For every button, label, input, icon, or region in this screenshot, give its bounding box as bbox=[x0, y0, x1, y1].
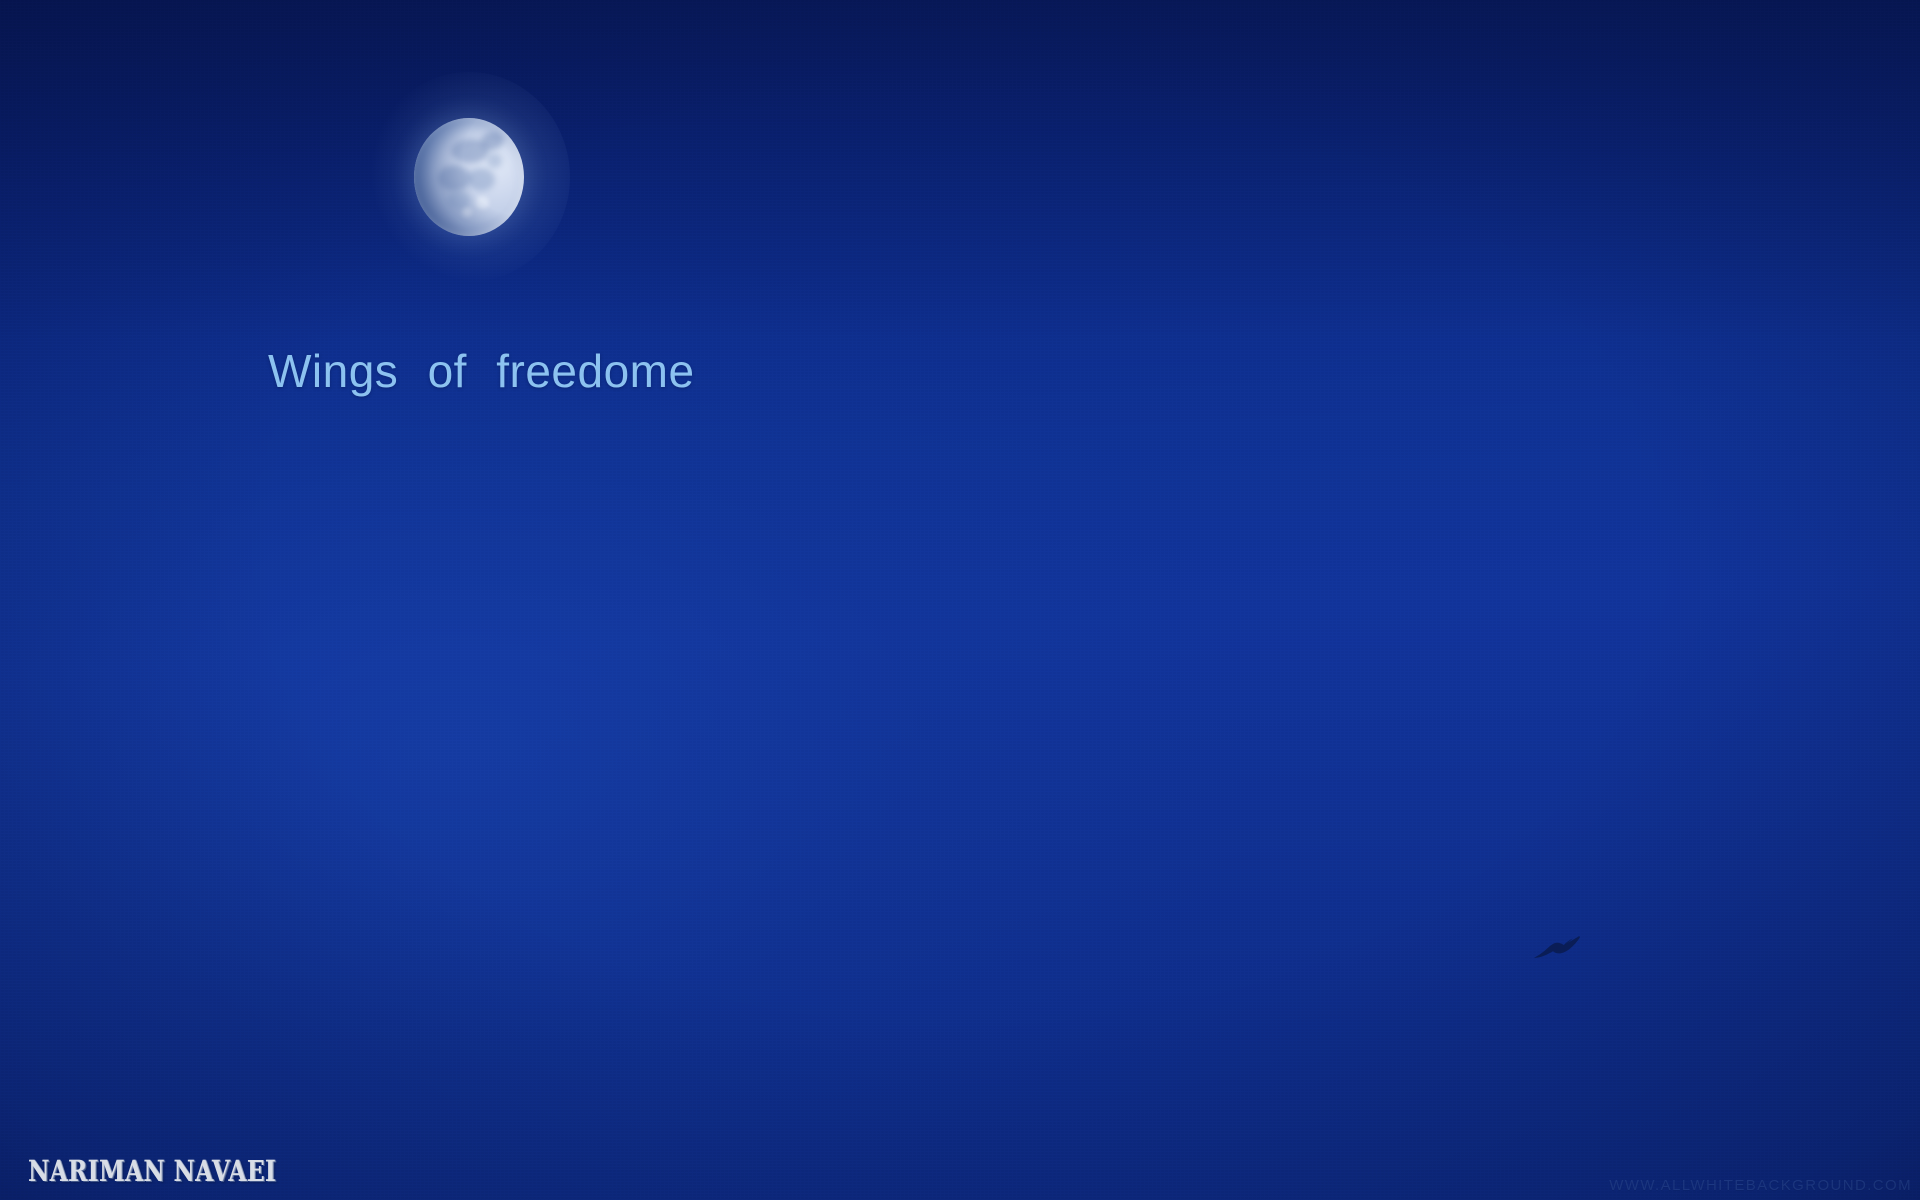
sky-noise-texture bbox=[0, 0, 1920, 1200]
photographer-watermark: NARIMAN NAVAEI bbox=[28, 1154, 276, 1188]
moon bbox=[414, 118, 524, 236]
site-watermark: WWW.ALLWHITEBACKGROUND.COM bbox=[1609, 1177, 1912, 1194]
moon-disc bbox=[414, 118, 524, 236]
moon-limb-highlight bbox=[414, 118, 524, 236]
wallpaper-canvas: Wings of freedome NARIMAN NAVAEI WWW.ALL… bbox=[0, 0, 1920, 1200]
caption-title: Wings of freedome bbox=[268, 346, 695, 397]
bird-silhouette-icon bbox=[1528, 930, 1586, 970]
